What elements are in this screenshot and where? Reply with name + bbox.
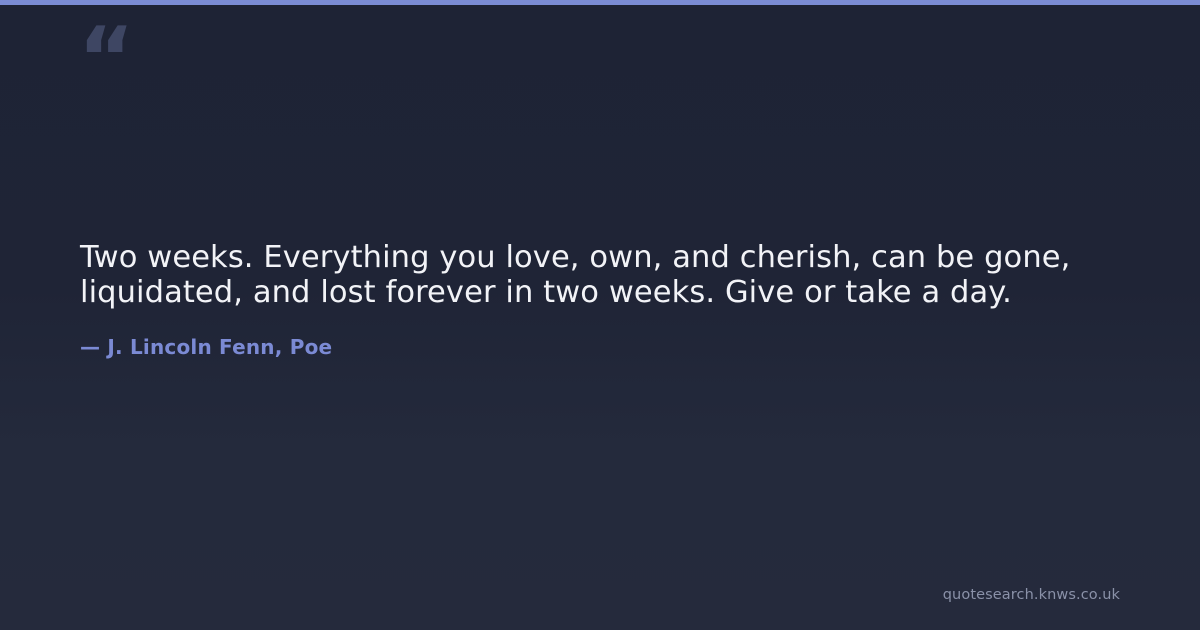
quote-text: Two weeks. Everything you love, own, and… bbox=[80, 240, 1140, 310]
quotation-mark-icon: “ bbox=[78, 16, 133, 102]
quote-card: “ Two weeks. Everything you love, own, a… bbox=[0, 0, 1200, 630]
top-accent-bar bbox=[0, 0, 1200, 5]
quote-content: Two weeks. Everything you love, own, and… bbox=[80, 240, 1140, 360]
quote-attribution: — J. Lincoln Fenn, Poe bbox=[80, 334, 1140, 360]
source-site-url: quotesearch.knws.co.uk bbox=[943, 586, 1120, 604]
